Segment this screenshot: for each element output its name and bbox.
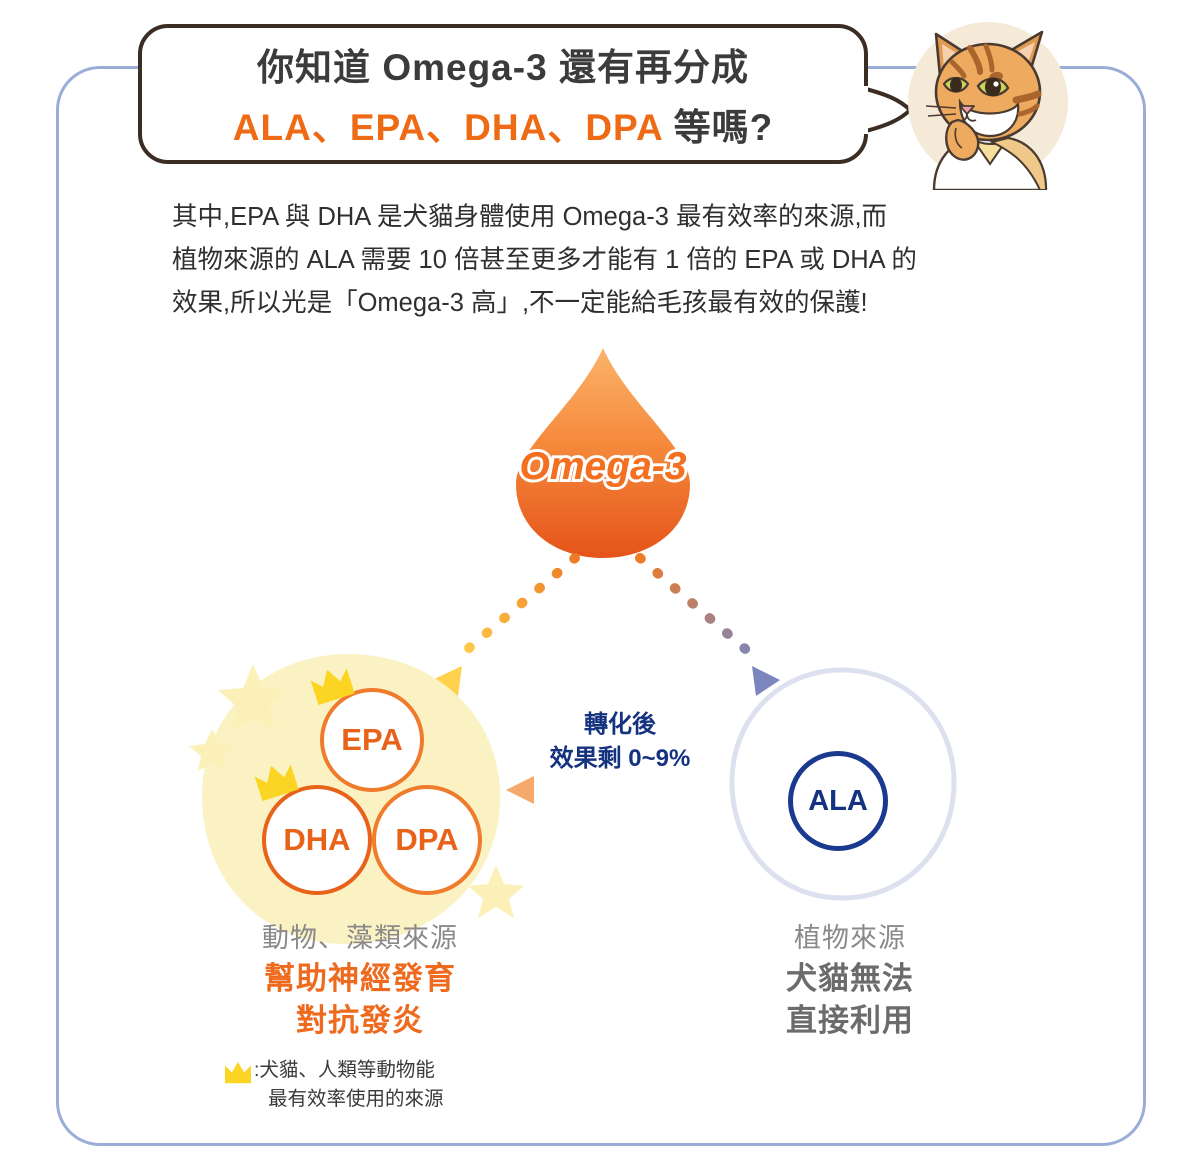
caption-right-main-line-2: 直接利用 <box>680 1000 1020 1042</box>
paragraph-line-2: 植物來源的 ALA 需要 10 倍甚至更多才能有 1 倍的 EPA 或 DHA … <box>172 239 1052 282</box>
cat-doctor-thinking-icon <box>900 14 1076 190</box>
star-decoration-icon <box>188 726 236 772</box>
paragraph-line-1: 其中,EPA 與 DHA 是犬貓身體使用 Omega-3 最有效率的來源,而 <box>172 196 1052 239</box>
crown-icon <box>222 1060 254 1086</box>
caption-left-sub: 動物、藻類來源 <box>170 918 550 958</box>
bubble-line-1: 你知道 Omega-3 還有再分成 <box>257 37 749 91</box>
footnote-line-1: :犬貓、人類等動物能 <box>254 1056 444 1085</box>
arrowhead-conversion <box>506 776 534 804</box>
dotted-arrow-right-path <box>640 558 758 660</box>
caption-left-main-line-1: 幫助神經發育 <box>170 958 550 1000</box>
caption-left: 動物、藻類來源 幫助神經發育 對抗發炎 <box>170 918 550 1042</box>
paragraph-line-3: 效果,所以光是「Omega-3 高」,不一定能給毛孩最有效的保護! <box>172 282 1052 325</box>
star-decoration-icon <box>466 862 526 920</box>
conversion-label-line-2: 效果剩 0~9% <box>500 742 740 776</box>
footnote-line-2: 最有效率使用的來源 <box>254 1085 444 1114</box>
caption-right: 植物來源 犬貓無法 直接利用 <box>680 918 1020 1042</box>
caption-right-sub: 植物來源 <box>680 918 1020 958</box>
bubble-line-2: ALA、EPA、DHA、DPA 等嗎? <box>233 97 773 151</box>
star-decoration-icon <box>216 660 290 732</box>
conversion-label-line-1: 轉化後 <box>500 708 740 742</box>
bubble-highlight-terms: ALA、EPA、DHA、DPA <box>233 107 663 148</box>
conversion-label: 轉化後 效果剩 0~9% <box>500 708 740 776</box>
caption-left-main-line-2: 對抗發炎 <box>170 1000 550 1042</box>
bubble-line-2-suffix: 等嗎? <box>662 107 773 148</box>
node-dpa[interactable]: DPA <box>372 785 482 895</box>
node-dha[interactable]: DHA <box>262 785 372 895</box>
speech-bubble-body: 你知道 Omega-3 還有再分成 ALA、EPA、DHA、DPA 等嗎? <box>138 24 868 164</box>
dotted-arrow-left-path <box>455 558 575 660</box>
footnote: :犬貓、人類等動物能 最有效率使用的來源 <box>222 1056 552 1114</box>
node-ala[interactable]: ALA <box>788 751 888 851</box>
speech-bubble: 你知道 Omega-3 還有再分成 ALA、EPA、DHA、DPA 等嗎? <box>138 24 868 164</box>
caption-right-main-line-1: 犬貓無法 <box>680 958 1020 1000</box>
body-paragraph: 其中,EPA 與 DHA 是犬貓身體使用 Omega-3 最有效率的來源,而 植… <box>172 196 1052 325</box>
